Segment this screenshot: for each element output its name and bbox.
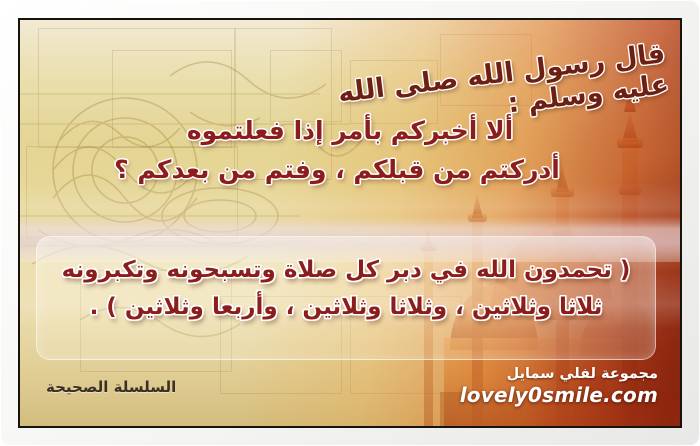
brand-name-arabic: مجموعة لفلي سمايل	[460, 366, 658, 382]
hadith-line-2: ثلاثا وثلاثين ، وثلاثا وثلاثين ، وأربعا …	[37, 289, 655, 326]
brand-website-url[interactable]: lovely0smile.com	[460, 383, 658, 407]
brand-block: مجموعة لفلي سمايل lovely0smile.com	[460, 366, 658, 407]
question-line-1: ألا أخبركم بأمر إذا فعلتموه	[20, 112, 680, 151]
hadith-attribution: قال رسول الله صلى الله عليه وسلم :	[246, 24, 666, 102]
question-line-2: أدركتم من قبلكم ، وفتم من بعدكم ؟	[20, 151, 680, 190]
footer: السلسلة الصحيحة مجموعة لفلي سمايل lovely…	[20, 360, 680, 426]
hadith-card: قال رسول الله صلى الله عليه وسلم : ألا أ…	[0, 0, 700, 446]
hadith-line-1: ( تحمدون الله في دبر كل صلاة وتسبحونه وت…	[37, 252, 655, 289]
hadith-panel: ( تحمدون الله في دبر كل صلاة وتسبحونه وت…	[36, 236, 656, 360]
question-block: ألا أخبركم بأمر إذا فعلتموه أدركتم من قب…	[20, 112, 680, 190]
source-reference: السلسلة الصحيحة	[46, 378, 176, 396]
poster-artwork: قال رسول الله صلى الله عليه وسلم : ألا أ…	[18, 18, 682, 428]
hadith-text-block: ( تحمدون الله في دبر كل صلاة وتسبحونه وت…	[37, 237, 655, 327]
